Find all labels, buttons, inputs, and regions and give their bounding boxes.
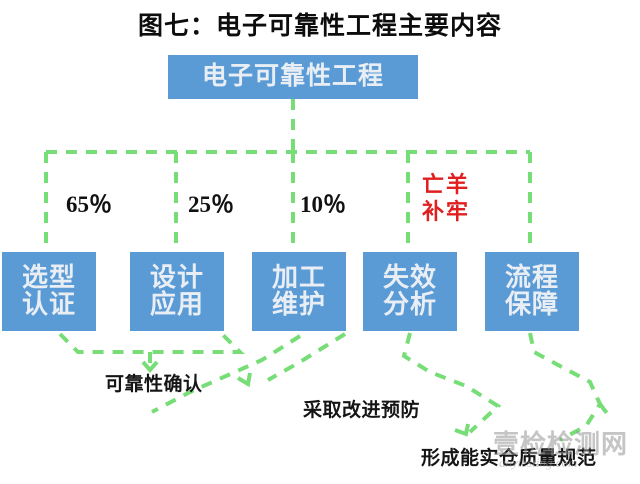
caption-xingcheng-guifan: 形成能实仓质量规范 [421, 443, 597, 470]
node-label-line1: 选型 [22, 265, 76, 292]
node-label-line1: 失效 [383, 265, 437, 292]
merge-12 [60, 334, 240, 352]
loop-process-tail [600, 404, 612, 420]
node-jiagong-weihu[interactable]: 加工 维护 [252, 252, 346, 331]
figure-title: 图七：电子可靠性工程主要内容 [0, 6, 640, 42]
node-root-label: 电子可靠性工程 [202, 64, 384, 90]
node-label-line2: 维护 [272, 292, 326, 319]
node-xuanxing-renzheng[interactable]: 选型 认证 [2, 252, 96, 331]
node-label-line1: 加工 [272, 265, 326, 292]
percent-label-xuanxing: 65％ [66, 185, 112, 219]
node-root[interactable]: 电子可靠性工程 [168, 55, 418, 99]
node-label-line2: 分析 [383, 292, 437, 319]
node-liucheng-baozhang[interactable]: 流程 保障 [485, 252, 579, 331]
percent-label-jiagong: 10％ [300, 185, 346, 219]
node-label-line1: 设计 [150, 265, 204, 292]
caption-kekaoxing-queren: 可靠性确认 [105, 369, 203, 396]
node-label-line1: 流程 [505, 265, 559, 292]
annotation-red-line2: 补牢 [414, 199, 478, 226]
annotation-red-line1: 亡羊 [414, 172, 478, 199]
node-shixiao-fenxi[interactable]: 失效 分析 [363, 252, 457, 331]
caption-caiqu-gaijin-yufang: 采取改进预防 [303, 395, 420, 422]
figure-canvas: 图七：电子可靠性工程主要内容 电子可靠性工程 选型 认证 设计 应用 加工 维护… [0, 0, 640, 484]
node-sheji-yingyong[interactable]: 设计 应用 [130, 252, 224, 331]
sweep-mid [268, 334, 345, 380]
loop-process [530, 333, 600, 440]
node-label-line2: 认证 [22, 292, 76, 319]
arrowhead-3 [455, 424, 468, 434]
node-label-line2: 应用 [150, 292, 204, 319]
arrowhead-2 [238, 373, 250, 384]
node-label-line2: 保障 [505, 292, 559, 319]
percent-label-sheji: 25％ [188, 185, 234, 219]
annotation-red-idiom: 亡羊 补牢 [414, 172, 478, 226]
